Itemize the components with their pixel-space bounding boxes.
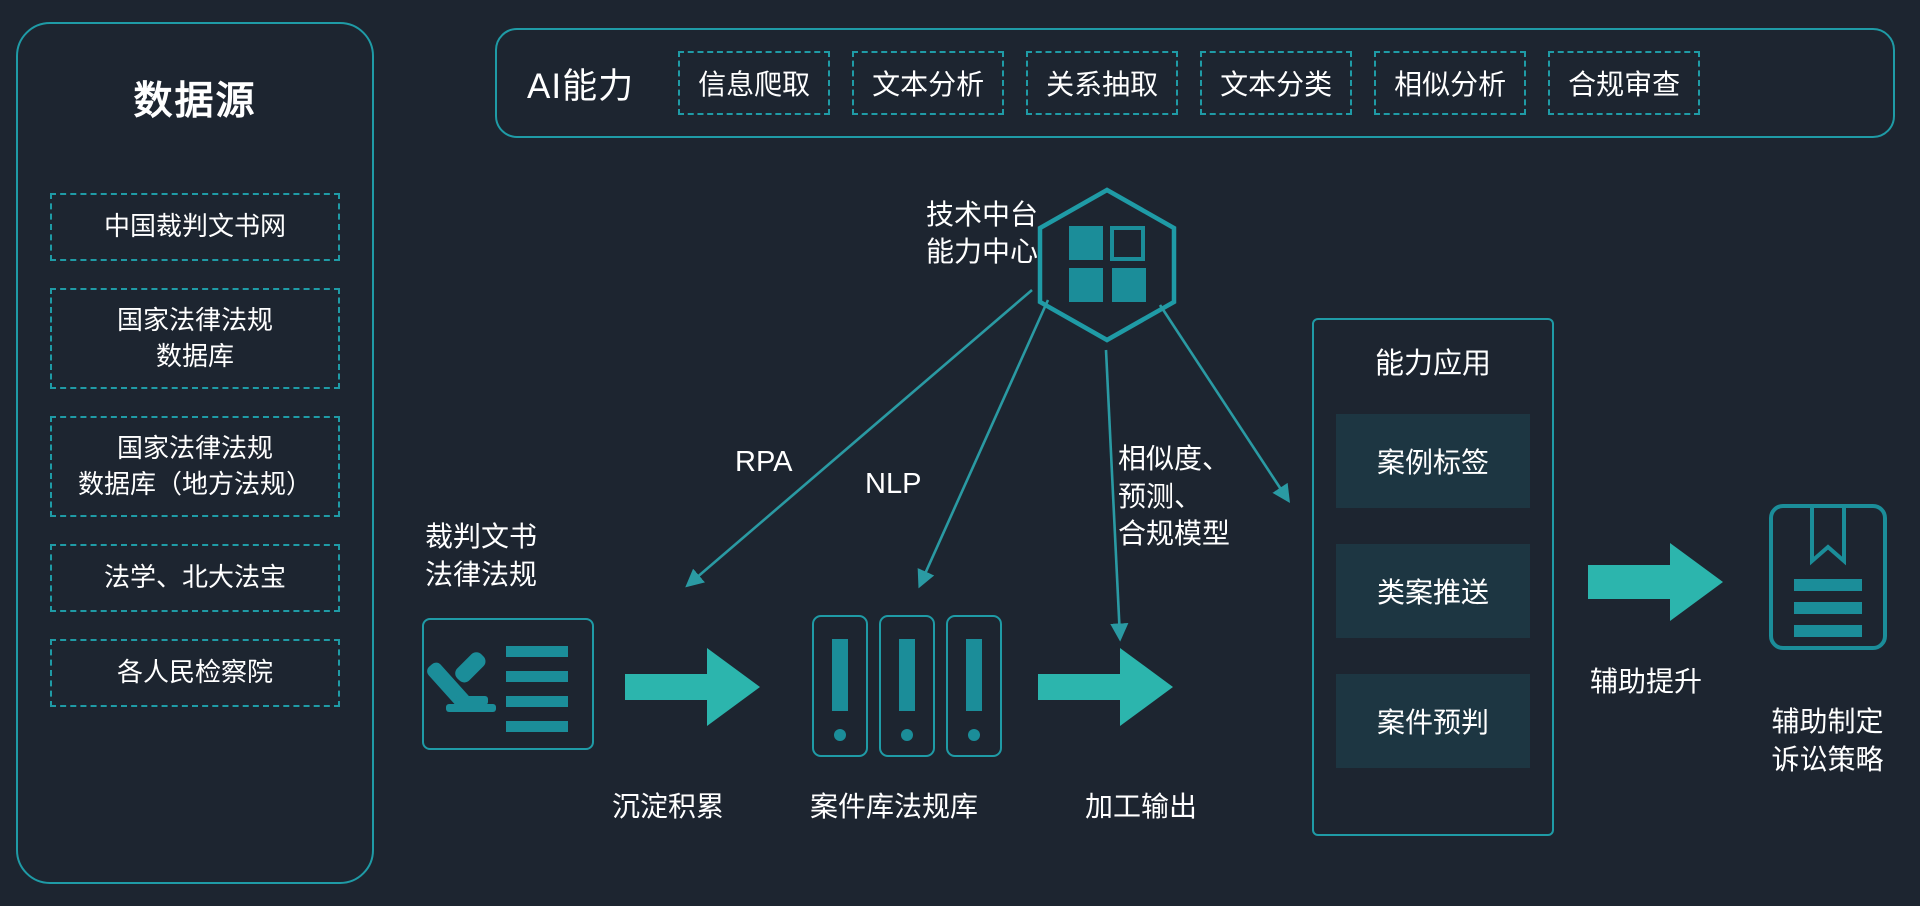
datasource-title: 数据源 <box>18 70 372 126</box>
stage-caption-case-regulation-library: 案件库法规库 <box>810 785 978 825</box>
datasource-item-2[interactable]: 国家法律法规 数据库 <box>50 288 340 389</box>
app-card-similar-case-push[interactable]: 类案推送 <box>1336 544 1530 638</box>
ai-capability-bar: AI能力 信息爬取 文本分析 关系抽取 文本分类 相似分析 合规审查 <box>495 28 1895 138</box>
datasource-panel: 数据源 中国裁判文书网 国家法律法规 数据库 国家法律法规 数据库（地方法规） … <box>16 22 374 884</box>
ai-tag-relation-extraction[interactable]: 关系抽取 <box>1026 51 1178 115</box>
flow-label-rpa: RPA <box>735 443 792 482</box>
flow-label-nlp: NLP <box>865 465 921 504</box>
datasource-item-3[interactable]: 国家法律法规 数据库（地方法规） <box>50 416 340 517</box>
datasource-item-1[interactable]: 中国裁判文书网 <box>50 193 340 261</box>
stage-caption-accumulation: 沉淀积累 <box>612 785 724 825</box>
server-dot <box>834 729 846 741</box>
judgement-doc-label: 裁判文书 法律法规 <box>425 518 625 593</box>
datasource-list: 中国裁判文书网 国家法律法规 数据库 国家法律法规 数据库（地方法规） 法学、北… <box>50 193 340 846</box>
ai-tag-text-classification[interactable]: 文本分类 <box>1200 51 1352 115</box>
server-bar <box>832 639 848 711</box>
server-box-2 <box>879 615 935 757</box>
datasource-item-5[interactable]: 各人民检察院 <box>50 639 340 707</box>
ai-tag-information-crawling[interactable]: 信息爬取 <box>678 51 830 115</box>
server-rack-icon <box>812 615 1002 757</box>
server-bar <box>899 639 915 711</box>
ai-tag-compliance-review[interactable]: 合规审查 <box>1548 51 1700 115</box>
datasource-item-4[interactable]: 法学、北大法宝 <box>50 544 340 612</box>
server-dot <box>901 729 913 741</box>
final-arrow-caption: 辅助提升 <box>1590 660 1702 700</box>
bookmark-document-icon <box>1768 503 1888 651</box>
app-card-case-prediction[interactable]: 案件预判 <box>1336 674 1530 768</box>
arrow-right-icon-final <box>1588 543 1723 621</box>
stage-caption-processing-output: 加工输出 <box>1085 785 1197 825</box>
hexagon-four-squares-icon <box>1032 186 1182 344</box>
diagram-canvas: 数据源 中国裁判文书网 国家法律法规 数据库 国家法律法规 数据库（地方法规） … <box>0 0 1920 906</box>
ai-capability-title: AI能力 <box>527 58 634 109</box>
app-card-case-tag[interactable]: 案例标签 <box>1336 414 1530 508</box>
server-box-3 <box>946 615 1002 757</box>
capability-application-panel: 能力应用 案例标签 类案推送 案件预判 <box>1312 318 1554 836</box>
capability-application-title: 能力应用 <box>1336 340 1530 382</box>
ai-tag-similarity-analysis[interactable]: 相似分析 <box>1374 51 1526 115</box>
tech-hub-label: 技术中台 能力中心 <box>848 196 1038 270</box>
arrow-right-icon-stage2 <box>1038 648 1173 726</box>
flow-label-model: 相似度、 预测、 合规模型 <box>1118 440 1230 553</box>
server-dot <box>968 729 980 741</box>
final-label: 辅助制定 诉讼策略 <box>1740 703 1915 778</box>
gavel-document-icon <box>422 618 594 750</box>
server-bar <box>966 639 982 711</box>
server-box-1 <box>812 615 868 757</box>
arrow-right-icon-stage1 <box>625 648 760 726</box>
ai-tag-text-analysis[interactable]: 文本分析 <box>852 51 1004 115</box>
